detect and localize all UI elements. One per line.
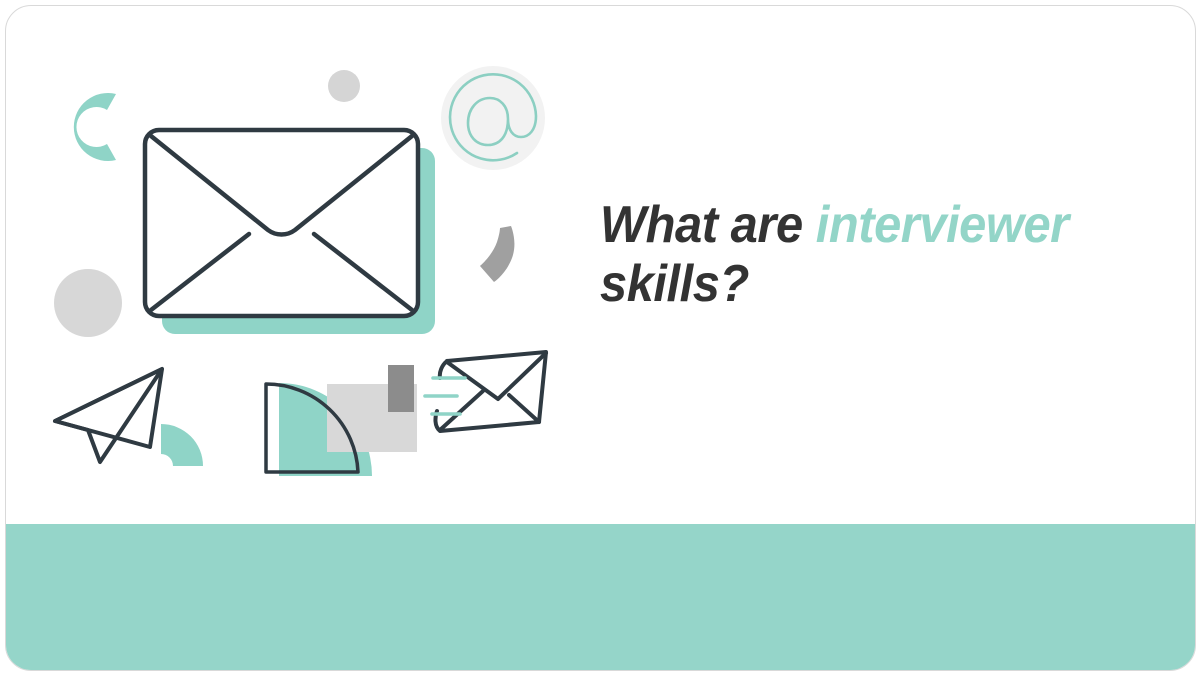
page-title: What are interviewerskills?: [600, 196, 1170, 315]
paper-plane-icon: [55, 369, 162, 462]
gray-petal-shape: [480, 226, 514, 282]
main-envelope-body: [145, 130, 418, 316]
speed-lines-icon: [425, 378, 465, 414]
page-title-text: What are interviewerskills?: [600, 196, 1136, 315]
page-title-part1: What are: [600, 196, 816, 254]
at-backdrop-circle: [441, 66, 545, 170]
gray-circle-large: [54, 269, 122, 337]
teal-quarter-arc: [161, 424, 203, 466]
gray-rect-dark-shape: [388, 365, 414, 412]
page-title-accent: interviewer: [816, 196, 1069, 254]
gray-circle-small: [328, 70, 360, 102]
teal-crescent-icon: [74, 93, 116, 161]
promo-card: What are interviewerskills? ZIPPIA THE C…: [5, 5, 1196, 671]
footer-band: ZIPPIA THE CAREER EXPERT: [6, 524, 1195, 670]
page-title-part2: skills?: [600, 255, 749, 313]
email-envelopes-illustration: [6, 6, 606, 526]
flying-envelope-icon: [435, 352, 546, 431]
